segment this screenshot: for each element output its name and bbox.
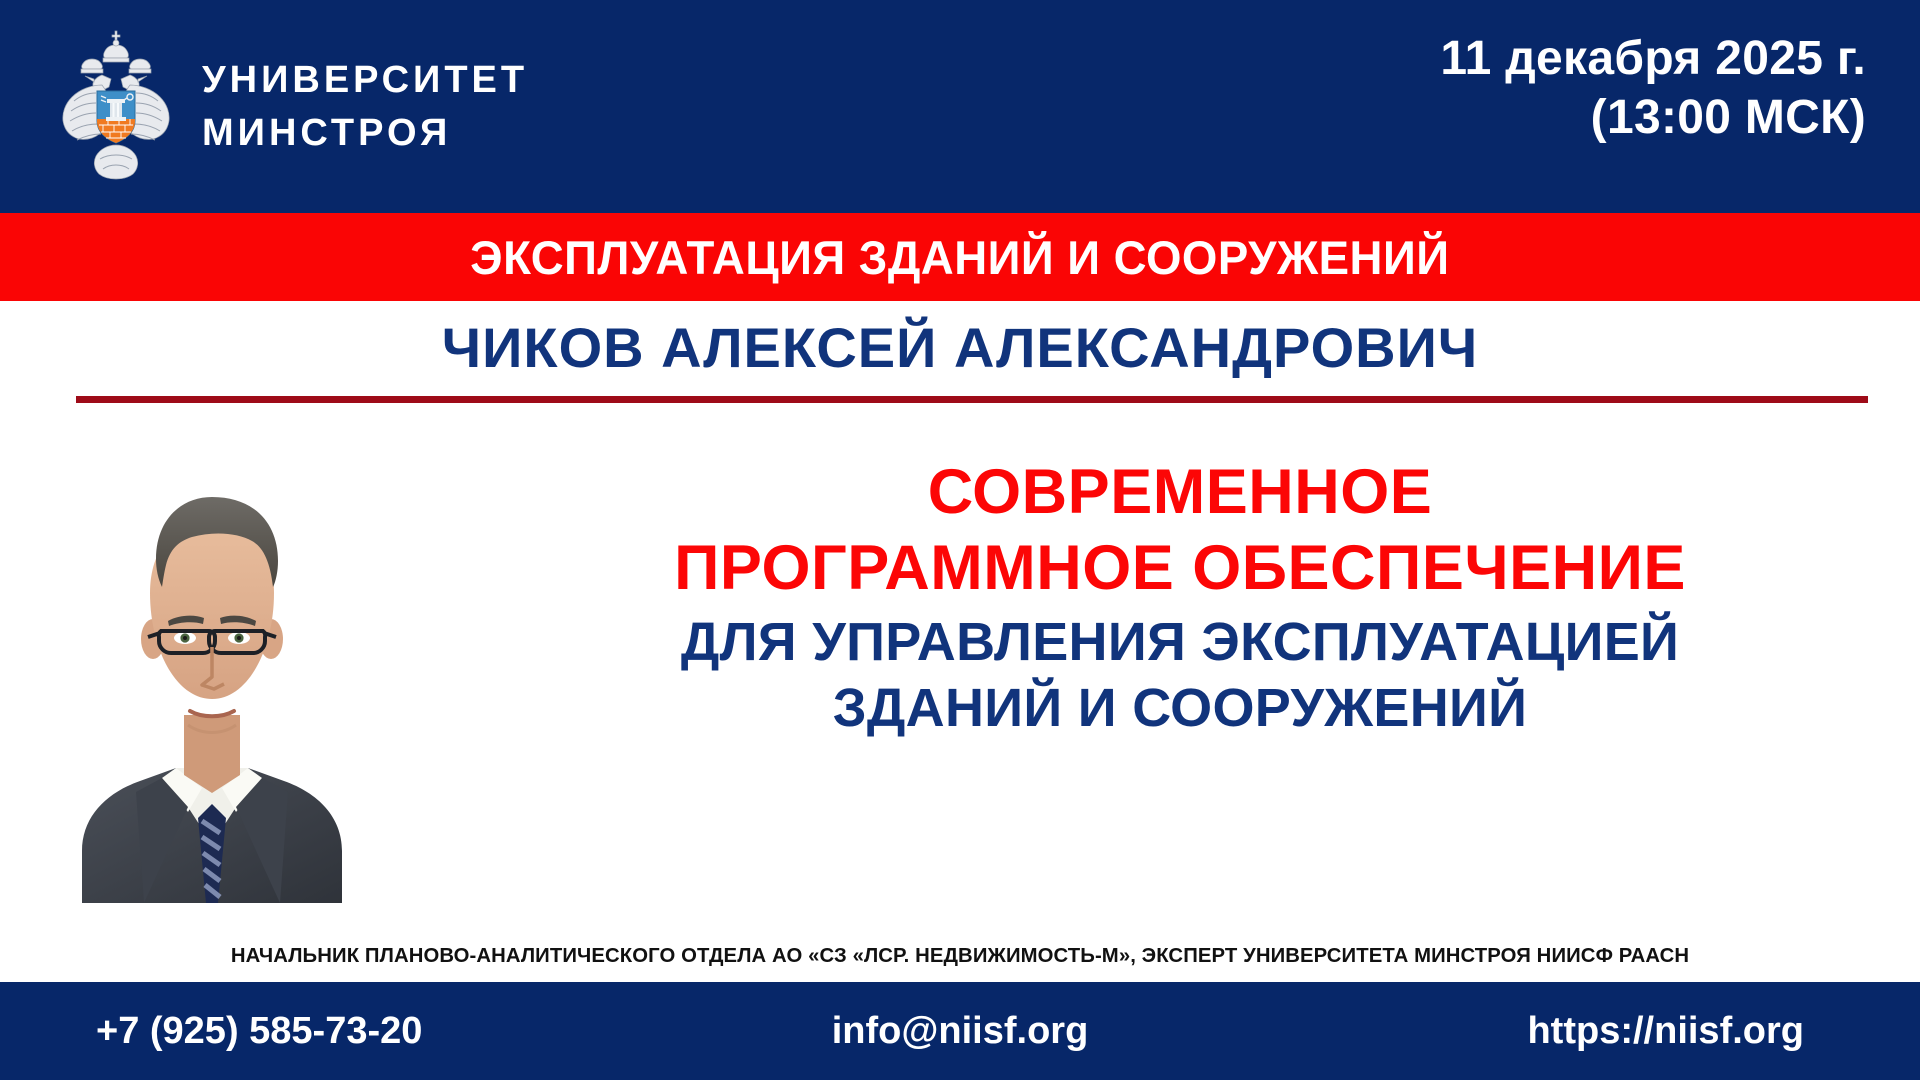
contact-email[interactable]: info@niisf.org — [832, 1010, 1089, 1053]
event-datetime: 11 декабря 2025 г. (13:00 МСК) — [1440, 30, 1866, 147]
contact-website[interactable]: https://niisf.org — [1527, 1010, 1804, 1053]
event-date: 11 декабря 2025 г. — [1440, 30, 1866, 89]
topic-title-red-line2: ПРОГРАММНОЕ ОБЕСПЕЧЕНИЕ — [480, 531, 1880, 607]
divider-rule — [76, 396, 1868, 403]
content-area: СОВРЕМЕННОЕ ПРОГРАММНОЕ ОБЕСПЕЧЕНИЕ ДЛЯ … — [0, 403, 1920, 982]
speaker-position: НАЧАЛЬНИК ПЛАНОВО-АНАЛИТИЧЕСКОГО ОТДЕЛА … — [10, 944, 1911, 968]
category-banner-text: ЭКСПЛУАТАЦИЯ ЗДАНИЙ И СООРУЖЕНИЙ — [470, 230, 1449, 285]
organization-name: УНИВЕРСИТЕТ МИНСТРОЯ — [202, 54, 528, 159]
category-banner: ЭКСПЛУАТАЦИЯ ЗДАНИЙ И СООРУЖЕНИЙ — [0, 213, 1920, 301]
footer-contact-bar: +7 (925) 585-73-20 info@niisf.org https:… — [0, 982, 1920, 1080]
speaker-photo — [52, 425, 372, 903]
contact-phone[interactable]: +7 (925) 585-73-20 — [96, 1010, 422, 1053]
speaker-name: ЧИКОВ АЛЕКСЕЙ АЛЕКСАНДРОВИЧ — [442, 315, 1478, 380]
header-bar: УНИВЕРСИТЕТ МИНСТРОЯ 11 декабря 2025 г. … — [0, 0, 1920, 213]
russian-double-headed-eagle-emblem-icon — [56, 27, 176, 187]
brand-block: УНИВЕРСИТЕТ МИНСТРОЯ — [0, 27, 528, 187]
webinar-announcement-poster: УНИВЕРСИТЕТ МИНСТРОЯ 11 декабря 2025 г. … — [0, 0, 1920, 1080]
topic-subtitle-blue: ДЛЯ УПРАВЛЕНИЯ ЭКСПЛУАТАЦИЕЙ ЗДАНИЙ И СО… — [480, 610, 1880, 742]
organization-name-line1: УНИВЕРСИТЕТ — [202, 54, 528, 106]
topic-title-red: СОВРЕМЕННОЕ ПРОГРАММНОЕ ОБЕСПЕЧЕНИЕ — [480, 455, 1880, 606]
topic-title-red-line1: СОВРЕМЕННОЕ — [480, 455, 1880, 531]
organization-name-line2: МИНСТРОЯ — [202, 107, 528, 159]
speaker-name-block: ЧИКОВ АЛЕКСЕЙ АЛЕКСАНДРОВИЧ — [0, 301, 1920, 403]
topic-subtitle-line2: ЗДАНИЙ И СООРУЖЕНИЙ — [480, 676, 1880, 742]
event-time: (13:00 МСК) — [1440, 89, 1866, 148]
topic-subtitle-line1: ДЛЯ УПРАВЛЕНИЯ ЭКСПЛУАТАЦИЕЙ — [480, 610, 1880, 676]
topic-title-block: СОВРЕМЕННОЕ ПРОГРАММНОЕ ОБЕСПЕЧЕНИЕ ДЛЯ … — [480, 455, 1880, 742]
